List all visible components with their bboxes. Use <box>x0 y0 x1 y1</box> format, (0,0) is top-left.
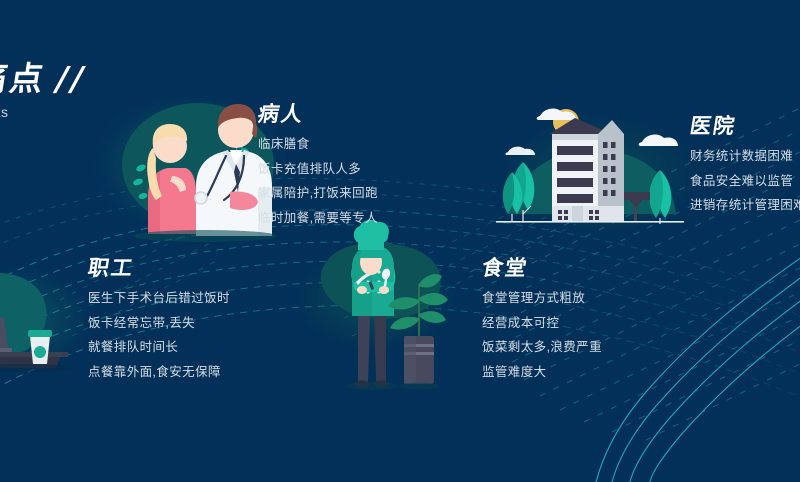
chef-with-plant-illustration <box>0 0 800 482</box>
title-slashes: // <box>52 62 90 95</box>
page-subtitle: oints <box>0 104 86 120</box>
section-patient-title: 病人 <box>256 104 379 125</box>
section-patient-item: 家属陪护,打饭来回跑 <box>258 187 378 200</box>
section-canteen-item: 监管难度大 <box>482 366 602 379</box>
slide-canvas: 痛点// oints 病人 临床膳食 饭卡充值排队人多 家属陪护,打饭来回跑 临… <box>0 0 800 482</box>
section-canteen: 食堂 食堂管理方式粗放 经营成本可控 饭菜剩太多,浪费严重 监管难度大 <box>482 258 602 378</box>
section-hospital-item: 食品安全难以监管 <box>690 175 800 188</box>
section-staff: 职工 医生下手术台后错过饭时 饭卡经常忘带,丢失 就餐排队时间长 点餐靠外面,食… <box>88 258 230 378</box>
section-canteen-title: 食堂 <box>480 258 603 279</box>
page-title-cn: 痛点 <box>0 59 49 98</box>
section-canteen-item: 食堂管理方式粗放 <box>482 292 602 305</box>
section-canteen-item: 饭菜剩太多,浪费严重 <box>482 341 602 354</box>
section-patient-item: 临时加餐,需要等专人 <box>258 212 378 225</box>
page-title: 痛点// oints <box>0 62 86 120</box>
person-at-laptop-illustration <box>0 0 800 482</box>
section-hospital-item: 进销存统计管理困难 <box>690 199 800 212</box>
section-staff-item: 饭卡经常忘带,丢失 <box>88 317 230 330</box>
section-staff-item: 医生下手术台后错过饭时 <box>88 292 230 305</box>
section-staff-title: 职工 <box>86 258 231 279</box>
section-hospital-item: 财务统计数据困难 <box>690 150 800 163</box>
section-hospital: 医院 财务统计数据困难 食品安全难以监管 进销存统计管理困难 <box>690 116 800 212</box>
section-patient-item: 临床膳食 <box>258 138 378 151</box>
hospital-building-illustration <box>0 0 800 482</box>
section-staff-item: 就餐排队时间长 <box>88 341 230 354</box>
section-patient: 病人 临床膳食 饭卡充值排队人多 家属陪护,打饭来回跑 临时加餐,需要等专人 <box>258 104 378 224</box>
section-patient-item: 饭卡充值排队人多 <box>258 163 378 176</box>
section-canteen-item: 经营成本可控 <box>482 317 602 330</box>
section-hospital-title: 医院 <box>688 116 800 137</box>
section-staff-item: 点餐靠外面,食安无保障 <box>88 366 230 379</box>
doctor-examining-child-illustration <box>0 0 800 482</box>
background-arc-lines <box>0 0 800 482</box>
